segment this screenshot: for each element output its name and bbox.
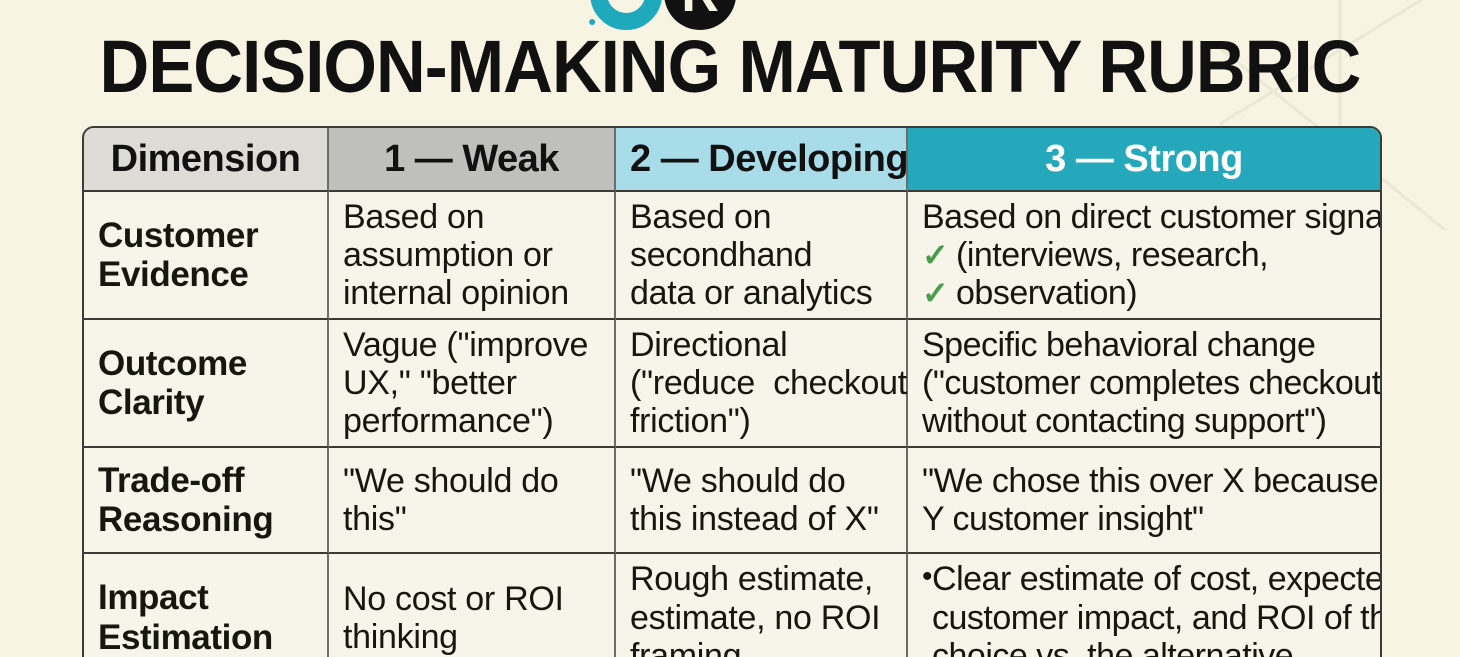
cell-text: "We should dothis instead of X" <box>630 462 892 538</box>
text-line: performance") <box>343 402 600 440</box>
cell-text: Based on direct customer signal✓(intervi… <box>922 198 1366 312</box>
cell-text: OutcomeClarity <box>98 344 313 422</box>
text-line: estimate, no ROI <box>630 599 892 637</box>
text-line: data or analytics <box>630 274 892 312</box>
text-line: Based on <box>343 198 600 236</box>
check-icon: ✓ <box>922 276 956 312</box>
column-header-strong: 3 — Strong <box>908 128 1380 192</box>
cell-text: •Clear estimate of cost, expectedcustome… <box>922 560 1366 657</box>
column-header-weak: 1 — Weak <box>329 128 616 192</box>
bullet-icon: • <box>922 560 932 594</box>
cell-text: ImpactEstimation <box>98 578 313 656</box>
text-line: UX," "better <box>343 364 600 402</box>
text-line: "We should do <box>630 462 892 500</box>
cell-strong: •Clear estimate of cost, expectedcustome… <box>908 554 1380 657</box>
cell-text: Vague ("improveUX," "betterperformance") <box>343 326 600 440</box>
cell-text: Specific behavioral change("customer com… <box>922 326 1366 440</box>
table-row: OutcomeClarityVague ("improveUX," "bette… <box>84 320 1380 448</box>
cell-developing: Directional("reduce checkoutfriction") <box>616 320 908 448</box>
text-line: "We chose this over X because of <box>922 462 1366 500</box>
brand-logo: R LEARNING <box>590 0 870 30</box>
text-line: Based on <box>630 198 892 236</box>
text-line: Impact <box>98 578 313 617</box>
text-line: Y customer insight" <box>922 500 1366 538</box>
text-line: ("reduce checkout <box>630 364 892 402</box>
table-row: Trade-offReasoning"We should dothis""We … <box>84 448 1380 554</box>
text-line: No cost or ROI <box>343 580 600 618</box>
text-line: assumption or <box>343 236 600 274</box>
text-line: Clarity <box>98 383 313 422</box>
cell-developing: Rough estimate,estimate, no ROIframing <box>616 554 908 657</box>
text-line: Based on direct customer signal <box>922 198 1366 236</box>
table-row: ImpactEstimationNo cost or ROIthinkingRo… <box>84 554 1380 657</box>
text-line: ✓(interviews, research, <box>922 236 1366 274</box>
bullet-text: Clear estimate of cost, expectedcustomer… <box>932 560 1382 657</box>
bullet-list-item: •Clear estimate of cost, expectedcustome… <box>922 560 1366 657</box>
cell-text: Based onsecondhanddata or analytics <box>630 198 892 312</box>
text-line: Outcome <box>98 344 313 383</box>
text-line: Customer <box>98 216 313 255</box>
cell-text: Trade-offReasoning <box>98 461 313 539</box>
table-header-row: Dimension 1 — Weak 2 — Developing 3 — St… <box>84 128 1380 192</box>
text-line: framing <box>630 637 892 657</box>
text-line: choice vs. the alternative <box>932 637 1382 657</box>
cell-developing: "We should dothis instead of X" <box>616 448 908 554</box>
text-line: ✓observation) <box>922 274 1366 312</box>
text-line: Directional <box>630 326 892 364</box>
text-line: without contacting support") <box>922 402 1366 440</box>
logo-wordmark: LEARNING <box>748 0 870 4</box>
rubric-table-body: CustomerEvidenceBased onassumption orint… <box>84 192 1380 657</box>
text-line: Specific behavioral change <box>922 326 1366 364</box>
page-title: DECISION-MAKING MATURITY RUBRIC <box>51 30 1409 104</box>
text-line: Reasoning <box>98 500 313 539</box>
text-line: ("customer completes checkout <box>922 364 1366 402</box>
logo-o-icon <box>590 0 662 30</box>
cell-weak: No cost or ROIthinking <box>329 554 616 657</box>
cell-weak: Vague ("improveUX," "betterperformance") <box>329 320 616 448</box>
rubric-table: Dimension 1 — Weak 2 — Developing 3 — St… <box>82 126 1382 657</box>
text-line: "We should do <box>343 462 600 500</box>
cell-dimension: CustomerEvidence <box>84 192 329 320</box>
text-line: Estimation <box>98 618 313 657</box>
cell-text: No cost or ROIthinking <box>343 580 600 656</box>
cell-strong: Specific behavioral change("customer com… <box>908 320 1380 448</box>
cell-dimension: ImpactEstimation <box>84 554 329 657</box>
column-header-dimension: Dimension <box>84 128 329 192</box>
table-row: CustomerEvidenceBased onassumption orint… <box>84 192 1380 320</box>
text-line: this instead of X" <box>630 500 892 538</box>
text-line: Clear estimate of cost, expected <box>932 560 1382 598</box>
text-line: friction") <box>630 402 892 440</box>
text-line: thinking <box>343 618 600 656</box>
cell-text: "We should dothis" <box>343 462 600 538</box>
text-line: Vague ("improve <box>343 326 600 364</box>
logo-r-icon: R <box>664 0 736 30</box>
cell-text: Based onassumption orinternal opinion <box>343 198 600 312</box>
text-line: internal opinion <box>343 274 600 312</box>
cell-strong: "We chose this over X because ofY custom… <box>908 448 1380 554</box>
rubric-table-container: Dimension 1 — Weak 2 — Developing 3 — St… <box>82 126 1378 657</box>
cell-weak: Based onassumption orinternal opinion <box>329 192 616 320</box>
cell-text: Directional("reduce checkoutfriction") <box>630 326 892 440</box>
text-line: Evidence <box>98 255 313 294</box>
text-line: Rough estimate, <box>630 560 892 598</box>
cell-dimension: OutcomeClarity <box>84 320 329 448</box>
text-line: secondhand <box>630 236 892 274</box>
cell-text: CustomerEvidence <box>98 216 313 294</box>
text-line: Trade-off <box>98 461 313 500</box>
column-header-developing: 2 — Developing <box>616 128 908 192</box>
cell-developing: Based onsecondhanddata or analytics <box>616 192 908 320</box>
cell-dimension: Trade-offReasoning <box>84 448 329 554</box>
cell-text: "We chose this over X because ofY custom… <box>922 462 1366 538</box>
text-line: customer impact, and ROI of this <box>932 599 1382 637</box>
text-line: this" <box>343 500 600 538</box>
cell-weak: "We should dothis" <box>329 448 616 554</box>
check-icon: ✓ <box>922 238 956 274</box>
cell-text: Rough estimate,estimate, no ROIframing <box>630 560 892 657</box>
cell-strong: Based on direct customer signal✓(intervi… <box>908 192 1380 320</box>
